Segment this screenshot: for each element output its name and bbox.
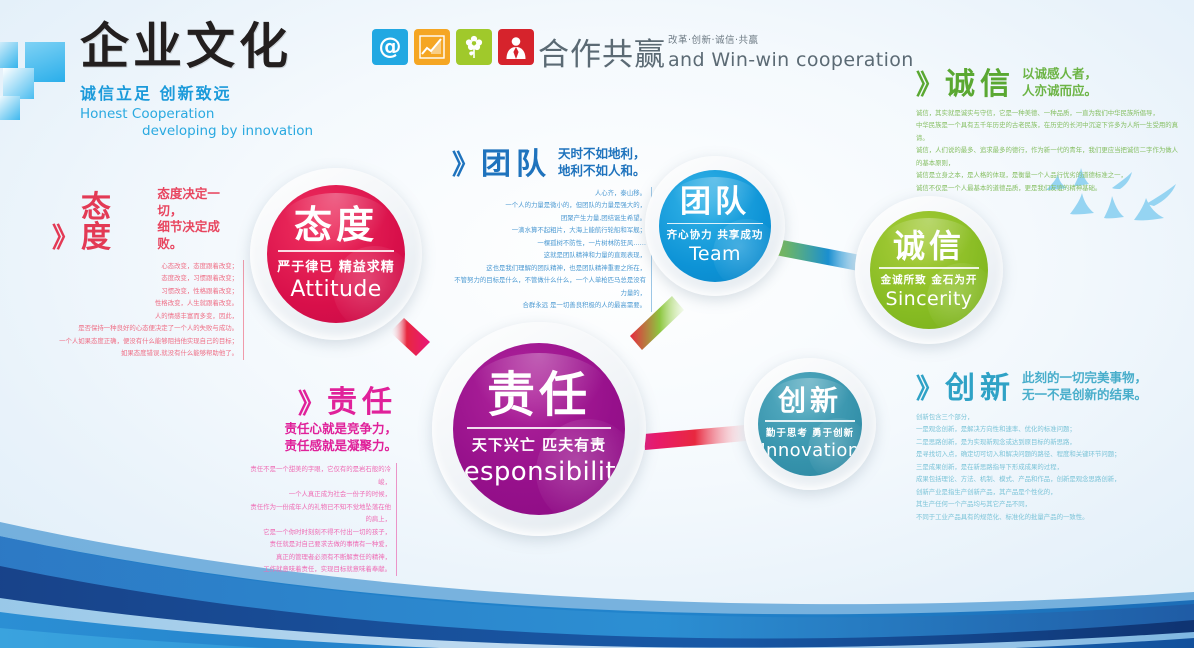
body-line: 责任不是一个甜美的字眼，它仅有的是岩石般的冷峻， <box>245 463 391 488</box>
body-line: 合群永远 是一切善良积极的人的最高需要。 <box>452 299 646 311</box>
body-line: 诚信是立身之本，是人格的体现，是衡量一个人品行优劣的道德标准之一， <box>916 169 1184 181</box>
body-line: 一个人如果态度正确，便没有什么能够阻挡他实现自己的目标； <box>52 335 238 347</box>
bubble-responsibility[interactable]: 责任 天下兴亡 匹夫有责 Responsibility <box>432 322 646 536</box>
body-line: 责任作为一份成年人的礼物已不知不觉地坠落在他的肩上， <box>245 501 391 526</box>
bubble-innovation[interactable]: 创新 勤于思考 勇于创新 Innovation <box>744 358 876 490</box>
body-line: 工作就意味着责任，实现目标就意味着奉献。 <box>245 563 391 575</box>
ribbon-responsibility-innovation <box>644 424 757 450</box>
bubble-innovation-en: Innovation <box>760 440 859 461</box>
bubble-divider <box>765 420 855 421</box>
body-line: 不同于工业产品具有的规范化、标准化的批量产品的一致性。 <box>916 511 1184 523</box>
bubble-innovation-motto: 勤于思考 勇于创新 <box>766 425 854 439</box>
bubble-sincerity[interactable]: 诚信 金诚所致 金石为开 Sincerity <box>855 196 1003 344</box>
bubble-attitude-en: Attitude <box>290 277 381 302</box>
body-line: 三是成果创新，是在新思路指导下形成成果的过程， <box>916 461 1184 473</box>
panel-attitude: 》 态度 态度决定一切， 细节决定成败。 心态改变，态度跟着改变；态度改变，习惯… <box>52 186 244 360</box>
body-line: 诚信，其实就是诚实与守信，它是一种美德、一种品质，一直为我们中华民族所倡导， <box>916 107 1184 119</box>
bubble-divider <box>278 250 394 251</box>
blue-wave-ribbons <box>0 522 1194 648</box>
bubble-attitude-motto: 严于律已 精益求精 <box>277 256 395 275</box>
bubble-responsibility-en: Responsibility <box>453 457 625 487</box>
bubble-sincerity-en: Sincerity <box>886 288 973 310</box>
bubble-sincerity-title: 诚信 <box>893 230 965 262</box>
body-line: 一是观念创新，是解决方向性和速率、优化的标准问题； <box>916 423 1184 435</box>
bubble-sincerity-motto: 金诚所致 金石为开 <box>881 272 978 287</box>
body-line: 一滴水算不起粗片，大海上能航行轮船和军舰； <box>452 224 646 236</box>
body-line: 二是思路创新，是为实现新观念或达到原目标的新思路， <box>916 436 1184 448</box>
panel-slogan-attitude-l2: 细节决定成败。 <box>157 219 220 251</box>
body-line: 诚信，人们说的最多、追求最多的德行，作为新一代的青年，我们更应当把诚信二字作为做… <box>916 144 1184 169</box>
panel-heading-team: 团队 <box>481 150 551 179</box>
body-line: 创新包含三个部分， <box>916 411 1184 423</box>
panel-heading-sincerity: 诚信 <box>945 70 1015 99</box>
panel-slogan-responsibility-l2: 责任感就是凝聚力。 <box>284 438 397 453</box>
body-line: 习惯改变，性格跟着改变； <box>52 285 238 297</box>
bubble-team-en: Team <box>689 243 741 265</box>
body-line: 其生产任何一个产品均与其它产品不同， <box>916 498 1184 510</box>
panel-slogan-innovation-l1: 此刻的一切完美事物， <box>1022 370 1147 385</box>
body-line: 这就是团队精神和力量的直观表现， <box>452 249 646 261</box>
body-line: 一个人的力量是微小的，但团队的力量是强大的， <box>452 199 646 211</box>
body-line: 是寻找切入点，确定切可切入和解决问题的路径、程度和关键环节问题； <box>916 448 1184 460</box>
panel-heading-innovation: 创新 <box>945 374 1015 403</box>
body-line: 一个人真正成为社会一份子的时候， <box>245 488 391 500</box>
body-line: 真正的管理者必须有不断解责任的精神， <box>245 551 391 563</box>
chevron-icon-responsibility: 》 <box>298 392 325 418</box>
panel-slogan-attitude-l1: 态度决定一切， <box>157 186 220 218</box>
panel-heading-responsibility: 责任 <box>327 388 397 417</box>
bubble-divider <box>879 267 979 268</box>
panel-body-team: 人心齐，泰山移。一个人的力量是微小的，但团队的力量是强大的，团聚产生力量,团结诞… <box>452 187 652 312</box>
bubble-divider <box>467 427 611 428</box>
panel-innovation: 》 创新 此刻的一切完美事物， 无一不是创新的结果。 创新包含三个部分，一是观念… <box>916 370 1184 523</box>
bubble-responsibility-motto: 天下兴亡 匹夫有责 <box>472 434 606 455</box>
bubble-team[interactable]: 团队 齐心协力 共享成功 Team <box>645 156 785 296</box>
bubble-team-motto: 齐心协力 共享成功 <box>667 227 764 242</box>
panel-slogan-team-l2: 地利不如人和。 <box>558 163 646 178</box>
body-line: 成果包括理论、方法、机制、模式、产品和作品，创新是观念思路创新， <box>916 473 1184 485</box>
chevron-icon-innovation: 》 <box>916 377 943 403</box>
panel-slogan-team-l1: 天时不如地利， <box>558 146 646 161</box>
panel-slogan-sincerity-l2: 人亦诚而应。 <box>1022 83 1097 98</box>
panel-team: 》 团队 天时不如地利， 地利不如人和。 人心齐，泰山移。一个人的力量是微小的，… <box>452 146 652 312</box>
bubble-responsibility-title: 责任 <box>487 371 591 419</box>
panel-body-sincerity: 诚信，其实就是诚实与守信，它是一种美德、一种品质，一直为我们中华民族所倡导，中华… <box>916 107 1184 194</box>
panel-responsibility: 》 责任 责任心就是竞争力， 责任感就是凝聚力。 责任不是一个甜美的字眼，它仅有… <box>245 388 397 576</box>
body-line: 责任就是对自己要求去做的事情有一种爱， <box>245 538 391 550</box>
panel-slogan-innovation-l2: 无一不是创新的结果。 <box>1022 387 1147 402</box>
body-line: 诚信不仅是一个人最基本的道德品质，更是我们友谊的精神基础。 <box>916 182 1184 194</box>
body-line: 创新产业是指生产创新产品，其产品是个性化的， <box>916 486 1184 498</box>
body-line: 团聚产生力量,团结诞生希望。 <box>452 212 646 224</box>
body-line: 不管努力的目标是什么，不管做什么什么，一个人单枪匹马总是没有力量的， <box>452 274 646 299</box>
poster-canvas: 企业文化 诚信立足 创新致远 Honest Cooperation develo… <box>0 0 1194 648</box>
body-line: 人的情感丰富而多变，因此， <box>52 310 238 322</box>
chevron-icon-attitude: 》 <box>52 226 79 252</box>
panel-slogan-sincerity-l1: 以诚感人者， <box>1022 66 1097 81</box>
panel-slogan-responsibility-l1: 责任心就是竞争力， <box>284 421 397 436</box>
bubble-attitude-title: 态度 <box>294 206 378 244</box>
body-line: 它是一个你时时刻刻不得不付出一切的孩子， <box>245 526 391 538</box>
ribbon-attitude-responsibility <box>390 318 430 356</box>
body-line: 人心齐，泰山移。 <box>452 187 646 199</box>
chevron-icon-team: 》 <box>452 153 479 179</box>
bubble-attitude[interactable]: 态度 严于律已 精益求精 Attitude <box>250 168 422 340</box>
body-line: 态度改变，习惯跟着改变； <box>52 272 238 284</box>
panel-body-responsibility: 责任不是一个甜美的字眼，它仅有的是岩石般的冷峻，一个人真正成为社会一份子的时候，… <box>245 463 397 575</box>
body-line: 是否保持一种良好的心态便决定了一个人的失败与成功。 <box>52 322 238 334</box>
body-line: 如果态度错误,就没有什么能够帮助他了。 <box>52 347 238 359</box>
body-line: 性格改变，人生就跟着改变。 <box>52 297 238 309</box>
panel-body-innovation: 创新包含三个部分，一是观念创新，是解决方向性和速率、优化的标准问题；二是思路创新… <box>916 411 1184 523</box>
bubble-divider <box>667 223 763 224</box>
body-line: 一棵孤树不防性，一片树林防狂风…… <box>452 237 646 249</box>
body-line: 中华民族是一个具有五千年历史的古老民族，在历史的长河中沉淀下许多为人所一生受用的… <box>916 119 1184 144</box>
body-line: 心态改变，态度跟着改变； <box>52 260 238 272</box>
bubble-innovation-title: 创新 <box>778 387 842 415</box>
panel-sincerity: 》 诚信 以诚感人者， 人亦诚而应。 诚信，其实就是诚实与守信，它是一种美德、一… <box>916 66 1184 194</box>
panel-heading-attitude: 态度 <box>81 193 150 252</box>
body-line: 这也是我们理解的团队精神，也是团队精神重要之所在， <box>452 262 646 274</box>
panel-body-attitude: 心态改变，态度跟着改变；态度改变，习惯跟着改变；习惯改变，性格跟着改变；性格改变… <box>52 260 244 360</box>
chevron-icon-sincerity: 》 <box>916 73 943 99</box>
bubble-team-title: 团队 <box>680 187 750 218</box>
